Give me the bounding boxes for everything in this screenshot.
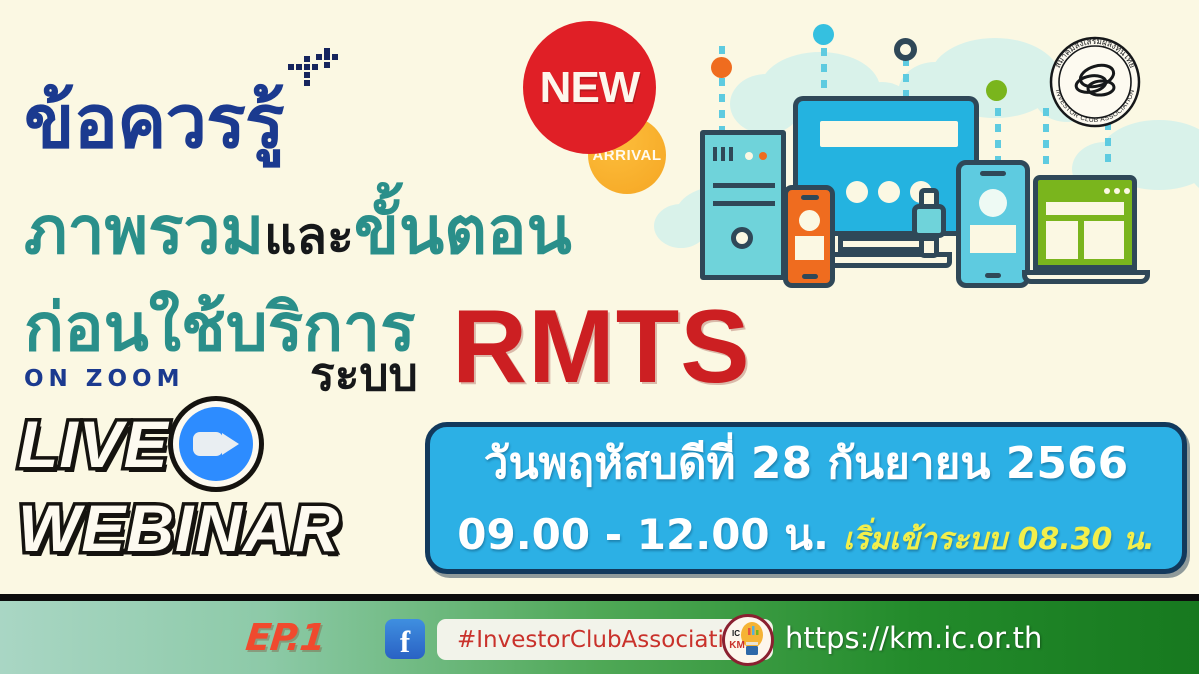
headline-line-1: ข้อควรรู้ xyxy=(24,62,284,180)
investor-club-association-seal: สมาคมส่งเสริมผู้ลงทุนไทย INVESTOR CLUB A… xyxy=(1041,28,1149,136)
footer-divider xyxy=(0,594,1199,601)
km-logo-top-text: IC xyxy=(732,629,740,638)
live-webinar-sticker: LIVE WEBINAR xyxy=(4,406,390,579)
orange-dot-icon xyxy=(711,57,732,78)
headline-line-2-part-c: ขั้นตอน xyxy=(354,192,572,269)
on-zoom-label: ON ZOOM xyxy=(24,366,184,392)
watch-band-bottom xyxy=(919,236,939,258)
smartphone-illustration xyxy=(783,185,835,288)
event-time-row: 09.00 - 12.00 น. เริ่มเข้าระบบ 08.30 น. xyxy=(457,502,1154,568)
desktop-tower-illustration xyxy=(700,130,786,280)
system-word: ระบบ xyxy=(310,338,418,411)
episode-label: EP.1 xyxy=(244,616,327,659)
laptop-base xyxy=(1022,270,1150,284)
cyan-dot-icon xyxy=(813,24,834,45)
zoom-camera-icon xyxy=(179,407,253,481)
headline-line-2: ภาพรวมและขั้นตอน xyxy=(24,178,572,283)
ic-km-logo: IC KM xyxy=(722,614,774,666)
plus-decoration xyxy=(272,48,342,104)
poster-canvas: ARRIVAL NEW สมาคมส่งเสริมผู้ลงทุนไทย INV… xyxy=(0,0,1199,674)
event-time: 09.00 - 12.00 น. xyxy=(457,502,829,568)
facebook-icon[interactable]: f xyxy=(385,619,425,659)
new-badge: NEW xyxy=(523,21,656,154)
live-label: LIVE xyxy=(18,406,169,482)
date-time-panel: วันพฤหัสบดีที่ 28 กันยายน 2566 09.00 - 1… xyxy=(425,422,1187,574)
rmts-title: RMTS xyxy=(452,288,751,407)
event-date: วันพฤหัสบดีที่ 28 กันยายน 2566 xyxy=(484,428,1129,498)
km-logo-bottom-text: KM xyxy=(729,640,745,651)
facebook-glyph: f xyxy=(400,626,410,657)
smartwatch-illustration xyxy=(912,204,946,238)
webinar-label: WEBINAR xyxy=(18,490,340,566)
facebook-hashtag: #InvestorClubAssociation xyxy=(457,627,753,653)
event-login-note: เริ่มเข้าระบบ 08.30 น. xyxy=(843,516,1155,563)
dashed-line xyxy=(995,92,1001,164)
km-website-url[interactable]: https://km.ic.or.th xyxy=(785,621,1042,655)
monitor-stand xyxy=(838,236,932,252)
laptop-illustration xyxy=(1033,175,1137,270)
tablet-illustration xyxy=(956,160,1030,288)
headline-line-2-part-b: และ xyxy=(264,207,354,265)
ring-dot-icon xyxy=(894,38,917,61)
headline-line-2-part-a: ภาพรวม xyxy=(24,192,264,269)
new-badge-label: NEW xyxy=(540,63,640,113)
green-dot-icon xyxy=(986,80,1007,101)
